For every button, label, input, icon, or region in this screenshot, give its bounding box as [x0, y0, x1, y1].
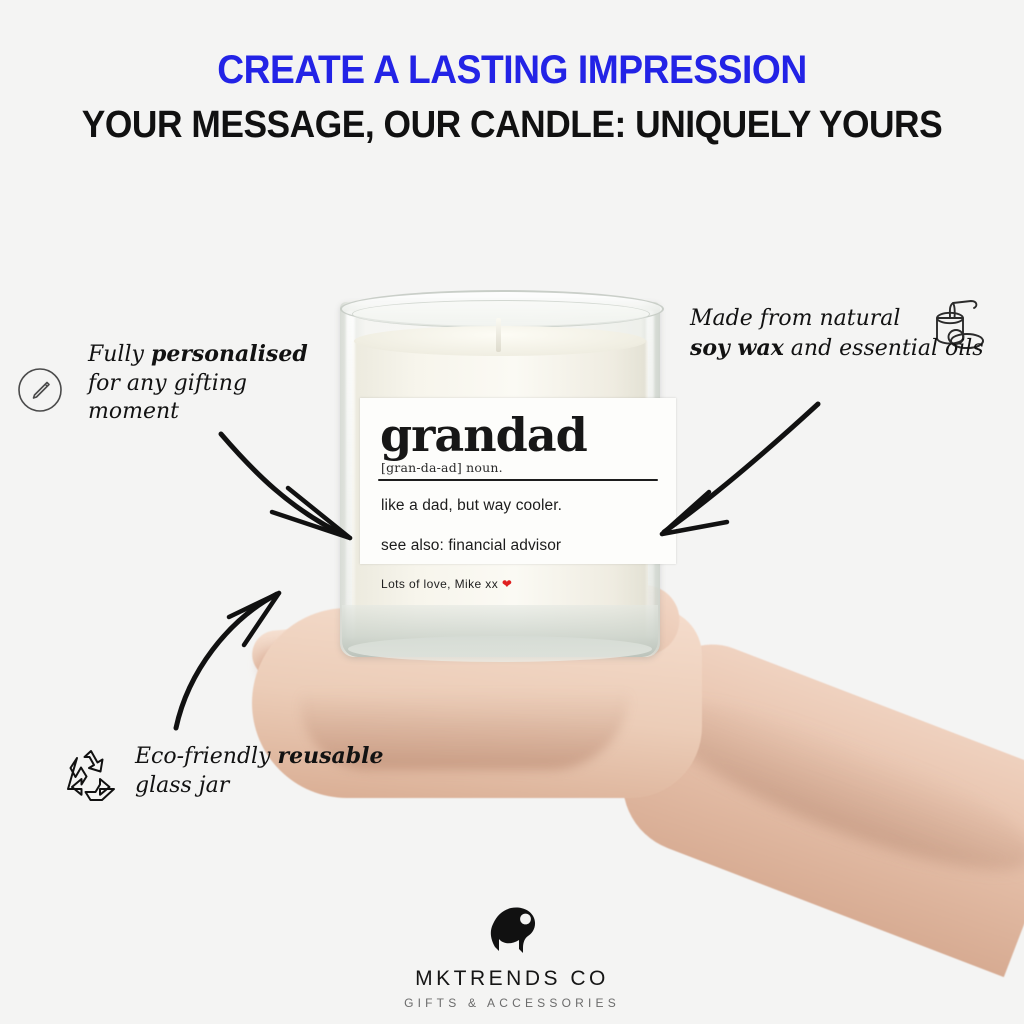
- label-divider: [378, 479, 658, 481]
- annotation-eco-emphasis: reusable: [277, 743, 383, 769]
- label-word: grandad: [380, 412, 658, 458]
- annotation-soy-wax-part-1: Made from natural: [690, 306, 900, 331]
- candle-label: grandad [gran-da-ad] noun. like a dad, b…: [360, 398, 676, 564]
- annotation-soy-wax: Made from natural soy wax and essential …: [690, 305, 1010, 363]
- heart-icon: ❤: [502, 577, 512, 591]
- brand-footer: MKTRENDS CO GIFTS & ACCESSORIES: [0, 904, 1024, 1010]
- headline-primary: CREATE A LASTING IMPRESSION: [36, 48, 988, 93]
- jar-rim-inner: [352, 300, 650, 328]
- jar-base-ellipse: [348, 636, 652, 662]
- brand-logo-icon: [0, 904, 1024, 963]
- brand-tagline: GIFTS & ACCESSORIES: [0, 996, 1024, 1010]
- annotation-personalised-part-1: Fully: [88, 342, 151, 367]
- label-definition-line-2: see also: financial advisor: [381, 537, 658, 555]
- headline-secondary: YOUR MESSAGE, OUR CANDLE: UNIQUELY YOURS: [36, 104, 988, 147]
- label-definition-line-1: like a dad, but way cooler.: [381, 497, 658, 515]
- annotation-personalised: Fully personalised for any gifting momen…: [88, 340, 328, 427]
- label-signature-text: Lots of love, Mike xx: [381, 577, 498, 591]
- annotation-eco-part-3: glass jar: [135, 773, 229, 798]
- promotional-image-canvas: CREATE A LASTING IMPRESSION YOUR MESSAGE…: [0, 0, 1024, 1024]
- label-signature: Lots of love, Mike xx ❤: [381, 577, 658, 591]
- jar-highlight: [346, 310, 355, 640]
- annotation-eco-friendly: Eco-friendly reusable glass jar: [135, 742, 425, 800]
- annotation-personalised-part-3: for any gifting moment: [88, 371, 247, 425]
- recycle-icon: [62, 746, 120, 807]
- annotation-eco-part-1: Eco-friendly: [135, 744, 277, 769]
- annotation-soy-wax-part-3: and essential oils: [784, 336, 984, 361]
- candle-wick: [496, 318, 501, 352]
- label-pronunciation: [gran-da-ad] noun.: [381, 460, 658, 475]
- pencil-circle-icon: [16, 366, 64, 419]
- annotation-soy-wax-emphasis: soy wax: [690, 335, 784, 361]
- brand-name: MKTRENDS CO: [0, 967, 1024, 991]
- annotation-personalised-emphasis: personalised: [151, 341, 308, 367]
